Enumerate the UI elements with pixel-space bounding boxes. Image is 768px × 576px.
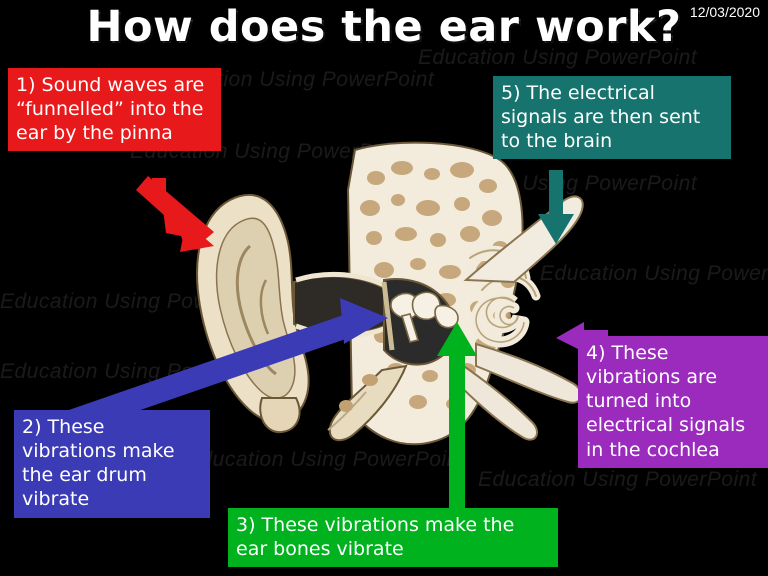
callout-3: 3) These vibrations make the ear bones v…: [228, 508, 558, 567]
page-title: How does the ear work?: [0, 2, 768, 52]
slide: Education Using PowerPoint Education Usi…: [0, 0, 768, 576]
callout-2: 2) These vibrations make the ear drum vi…: [14, 410, 210, 518]
watermark: Education Using PowerPoint: [478, 468, 757, 492]
callout-4: 4) These vibrations are turned into elec…: [578, 336, 768, 468]
callout-1: 1) Sound waves are “funnelled” into the …: [8, 68, 221, 151]
callout-5: 5) The electrical signals are then sent …: [493, 76, 731, 159]
ear-anatomy-diagram: [170, 130, 620, 460]
